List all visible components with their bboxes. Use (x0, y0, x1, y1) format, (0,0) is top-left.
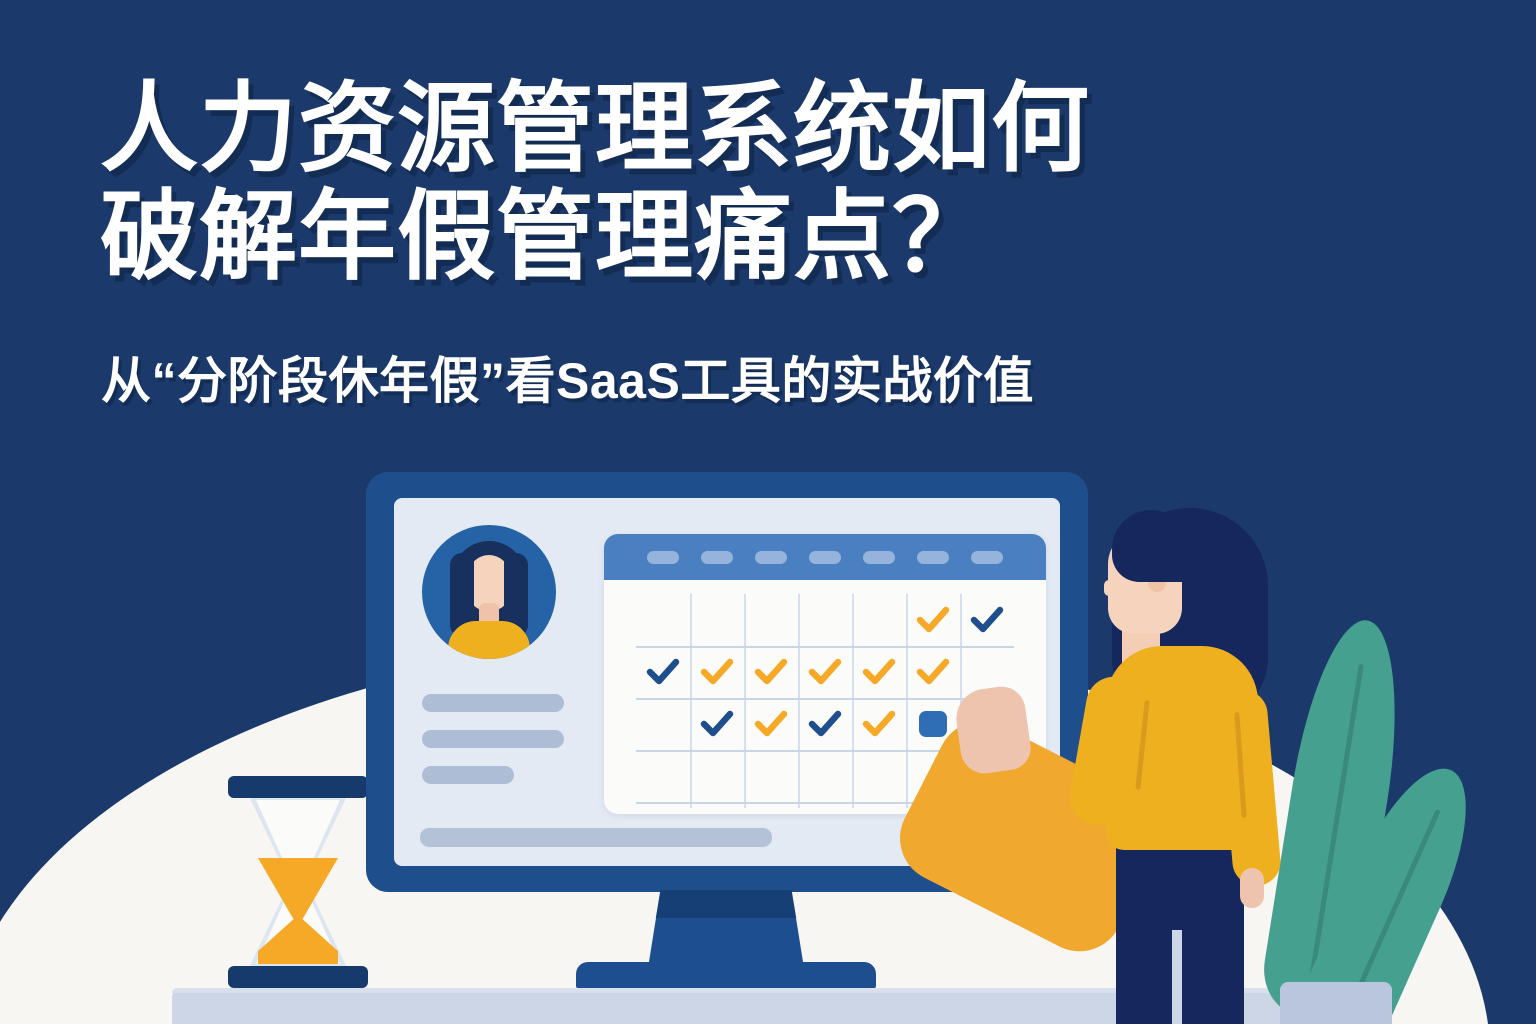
calendar-check-icon[interactable] (808, 707, 842, 741)
monitor-base (576, 962, 876, 988)
calendar-check-icon[interactable] (754, 655, 788, 689)
calendar-weekday-label (755, 551, 787, 564)
profile-placeholder-bar (422, 766, 514, 784)
calendar-check-icon[interactable] (970, 603, 1004, 637)
calendar-weekday-label (971, 551, 1003, 564)
calendar-check-icon[interactable] (754, 707, 788, 741)
calendar-check-icon[interactable] (700, 655, 734, 689)
person-right-hand (1240, 868, 1264, 908)
person-hair-front (1112, 510, 1190, 582)
calendar-column-divider (798, 594, 800, 808)
calendar-weekday-label (917, 551, 949, 564)
profile-placeholder-bar (422, 694, 564, 712)
person-trouser-gap (1172, 930, 1182, 1024)
hourglass-cap-top (228, 776, 368, 798)
calendar-weekday-label (863, 551, 895, 564)
calendar-column-divider (744, 594, 746, 808)
headline-line-1: 人力资源管理系统如何 (100, 73, 1090, 183)
poster-canvas: 人力资源管理系统如何 破解年假管理痛点？ 从“分阶段休年假”看SaaS工具的实战… (0, 0, 1536, 1024)
calendar-selected-day[interactable] (919, 711, 947, 737)
hourglass-cap-bottom (228, 966, 368, 988)
profile-footer-bar (420, 828, 772, 847)
hourglass-sand-top (258, 858, 338, 920)
calendar-row-divider (636, 698, 1014, 700)
calendar-column-divider (690, 594, 692, 808)
calendar-header (604, 534, 1046, 580)
calendar-weekday-label (809, 551, 841, 564)
avatar-shoulders (448, 621, 530, 659)
calendar-check-icon[interactable] (646, 655, 680, 689)
calendar-row-divider (636, 646, 1014, 648)
calendar-column-divider (906, 594, 908, 808)
calendar-check-icon[interactable] (862, 707, 896, 741)
calendar-check-icon[interactable] (700, 707, 734, 741)
calendar-check-icon[interactable] (916, 603, 950, 637)
profile-placeholder-bar (422, 730, 564, 748)
person-nose (1104, 580, 1114, 596)
calendar-check-icon[interactable] (916, 655, 950, 689)
calendar-check-icon[interactable] (862, 655, 896, 689)
plant-pot (1280, 982, 1392, 1024)
monitor-neck-shadow (648, 890, 804, 918)
hourglass-icon (228, 776, 368, 988)
calendar-check-icon[interactable] (808, 655, 842, 689)
avatar (422, 525, 556, 659)
calendar-weekday-label (701, 551, 733, 564)
calendar-column-divider (852, 594, 854, 808)
page-title: 人力资源管理系统如何 破解年假管理痛点？ (100, 74, 1440, 290)
calendar-weekday-label (647, 551, 679, 564)
page-subtitle: 从“分阶段休年假”看SaaS工具的实战价值 (101, 352, 1441, 410)
headline-line-2: 破解年假管理痛点？ (100, 182, 1440, 290)
